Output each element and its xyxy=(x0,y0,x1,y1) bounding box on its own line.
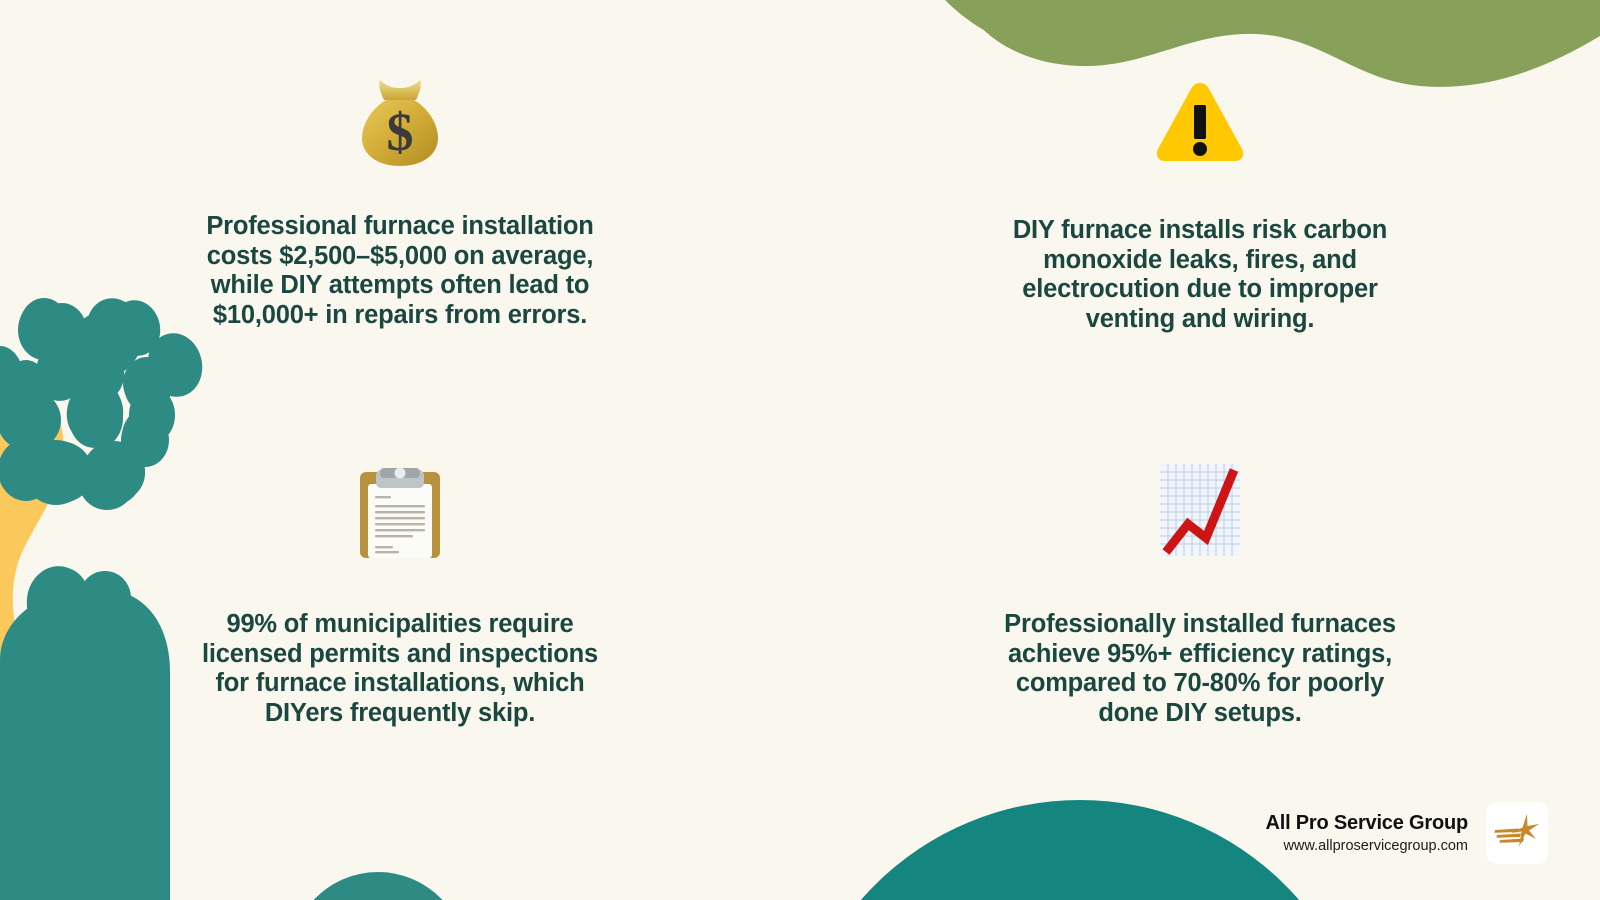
stat-card-cost-text: Professional furnace installation costs … xyxy=(188,212,613,330)
brand-text-block: All Pro Service Group www.allproserviceg… xyxy=(1265,813,1468,854)
svg-text:$: $ xyxy=(387,102,414,162)
brand-url[interactable]: www.allproservicegroup.com xyxy=(1283,839,1468,854)
money-bag-icon: $ xyxy=(356,70,444,174)
stat-card-permits: 99% of municipalities require licensed p… xyxy=(0,440,800,820)
stat-card-efficiency-text: Professionally installed furnaces achiev… xyxy=(990,610,1410,728)
clipboard-icon xyxy=(354,458,446,562)
stat-card-safety-risk-text: DIY furnace installs risk carbon monoxid… xyxy=(985,216,1415,334)
chart-increasing-icon xyxy=(1154,458,1246,562)
stat-card-efficiency: Professionally installed furnaces achiev… xyxy=(800,440,1600,820)
infographic-canvas: $ Professional furnace installation cost… xyxy=(0,0,1600,900)
star-swoosh-logo-icon xyxy=(1494,813,1540,853)
brand-name: All Pro Service Group xyxy=(1265,813,1468,833)
warning-triangle-icon xyxy=(1154,70,1246,174)
brand-logo xyxy=(1486,802,1548,864)
brand-footer: All Pro Service Group www.allproserviceg… xyxy=(1265,802,1548,864)
stat-card-permits-text: 99% of municipalities require licensed p… xyxy=(190,610,610,728)
stats-grid: $ Professional furnace installation cost… xyxy=(0,0,1600,900)
stat-card-safety-risk: DIY furnace installs risk carbon monoxid… xyxy=(800,60,1600,440)
stat-card-cost: $ Professional furnace installation cost… xyxy=(0,60,800,440)
